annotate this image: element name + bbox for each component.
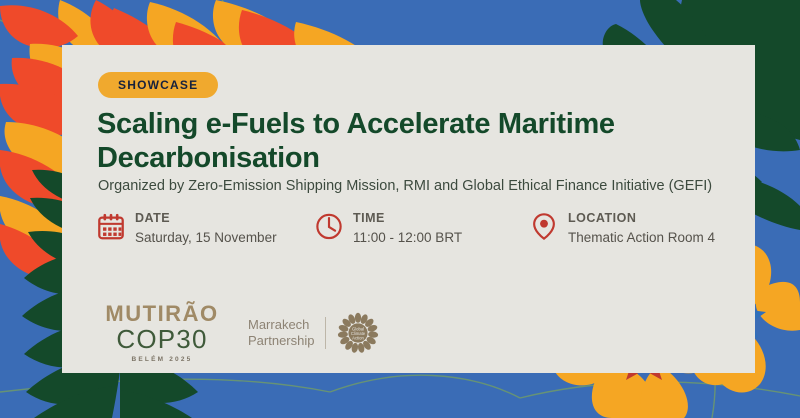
event-location-block: LOCATION Thematic Action Room 4 (529, 210, 744, 246)
showcase-badge: SHOWCASE (98, 72, 218, 98)
marrakech-line-1: Marrakech (248, 317, 314, 333)
event-date-value: Saturday, 15 November (135, 229, 277, 247)
global-climate-action-seal-icon: Global Climate Action (337, 312, 379, 354)
event-location-label: LOCATION (568, 211, 715, 227)
seal-line-3: Action (353, 336, 365, 341)
event-date-text: DATE Saturday, 15 November (135, 210, 277, 246)
cop30-mutirao-text: MUTIRÃO (98, 303, 226, 325)
location-pin-icon (529, 210, 559, 242)
cop30-belem-text: BELÉM 2025 (98, 356, 226, 363)
event-time-label: TIME (353, 211, 462, 227)
event-time-value: 11:00 - 12:00 BRT (353, 229, 462, 247)
event-location-text: LOCATION Thematic Action Room 4 (568, 210, 715, 246)
event-card: SHOWCASE Scaling e-Fuels to Accelerate M… (62, 45, 755, 373)
event-time-block: TIME 11:00 - 12:00 BRT (314, 210, 529, 246)
calendar-icon (96, 210, 126, 242)
marrakech-partnership-text: Marrakech Partnership (248, 317, 326, 350)
event-time-text: TIME 11:00 - 12:00 BRT (353, 210, 462, 246)
clock-icon (314, 210, 344, 242)
event-location-value: Thematic Action Room 4 (568, 229, 715, 247)
logo-lockup: MUTIRÃO COP30 BELÉM 2025 Marrakech Partn… (98, 303, 379, 363)
event-meta-row: DATE Saturday, 15 November TIME 11:00 - … (96, 210, 746, 246)
event-date-label: DATE (135, 211, 277, 227)
marrakech-line-2: Partnership (248, 333, 314, 349)
cop30-logo: MUTIRÃO COP30 BELÉM 2025 (98, 303, 226, 363)
cop30-number-text: COP30 (98, 326, 226, 353)
event-title-line-2: Decarbonisation (97, 141, 717, 175)
event-organizers: Organized by Zero-Emission Shipping Miss… (98, 177, 748, 196)
event-title-line-1: Scaling e-Fuels to Accelerate Maritime (97, 107, 717, 141)
event-date-block: DATE Saturday, 15 November (96, 210, 314, 246)
marrakech-partnership-logo: Marrakech Partnership (248, 312, 379, 354)
event-banner: SHOWCASE Scaling e-Fuels to Accelerate M… (0, 0, 800, 418)
event-title: Scaling e-Fuels to Accelerate Maritime D… (97, 107, 717, 175)
